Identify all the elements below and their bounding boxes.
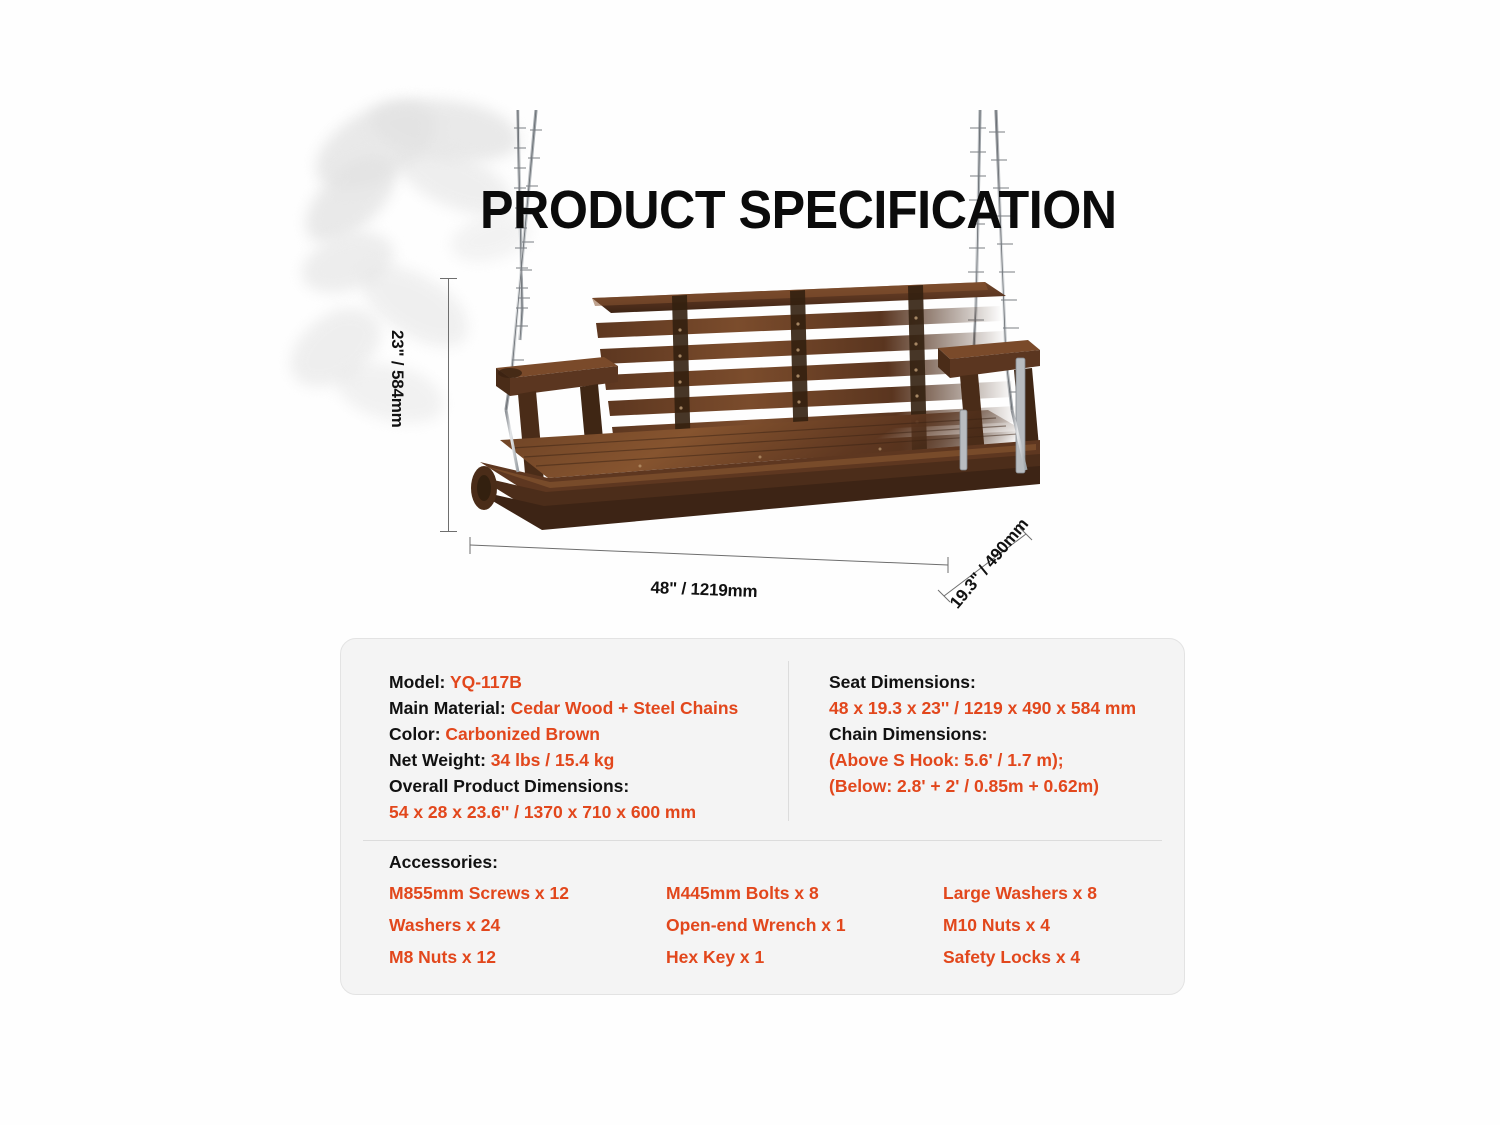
- height-dimension-label: 23" / 584mm: [387, 330, 407, 428]
- width-dimension-line: [466, 534, 952, 574]
- spec-label-model: Model:: [389, 672, 445, 692]
- accessories-section: Accessories: M855mm Screws x 12 M445mm B…: [341, 852, 1184, 968]
- accessory-item: Large Washers x 8: [943, 883, 1136, 904]
- spec-value-chain-below: (Below: 2.8' + 2' / 0.85m + 0.62m): [829, 773, 1169, 799]
- depth-dimension-line: [930, 520, 1060, 630]
- spec-label-main-material: Main Material:: [389, 698, 506, 718]
- accessory-item: Washers x 24: [389, 915, 666, 936]
- spec-value-model: YQ-117B: [450, 672, 522, 692]
- spec-label-seat-dimensions: Seat Dimensions:: [829, 669, 1169, 695]
- accessory-item: Safety Locks x 4: [943, 947, 1136, 968]
- column-divider: [788, 661, 789, 821]
- spec-value-overall-dimensions: 54 x 28 x 23.6'' / 1370 x 710 x 600 mm: [389, 799, 789, 825]
- accessories-grid: M855mm Screws x 12 M445mm Bolts x 8 Larg…: [389, 883, 1136, 968]
- spec-value-color: Carbonized Brown: [445, 724, 600, 744]
- spec-value-main-material: Cedar Wood + Steel Chains: [511, 698, 739, 718]
- accessory-item: M855mm Screws x 12: [389, 883, 666, 904]
- accessory-item: M445mm Bolts x 8: [666, 883, 943, 904]
- height-dimension-cap-top: [440, 278, 457, 279]
- height-dimension-line: [448, 278, 449, 531]
- spec-row-net-weight: Net Weight: 34 lbs / 15.4 kg: [389, 747, 789, 773]
- section-divider: [363, 840, 1162, 841]
- specification-top-section: Model: YQ-117B Main Material: Cedar Wood…: [341, 639, 1184, 841]
- accessory-item: Hex Key x 1: [666, 947, 943, 968]
- spec-column-right: Seat Dimensions: 48 x 19.3 x 23'' / 1219…: [829, 669, 1169, 799]
- accessory-item: M10 Nuts x 4: [943, 915, 1136, 936]
- width-dimension-label: 48" / 1219mm: [650, 578, 757, 602]
- page-title: PRODUCT SPECIFICATION: [480, 183, 1019, 237]
- spec-row-model: Model: YQ-117B: [389, 669, 789, 695]
- spec-row-main-material: Main Material: Cedar Wood + Steel Chains: [389, 695, 789, 721]
- spec-row-color: Color: Carbonized Brown: [389, 721, 789, 747]
- spec-value-chain-above: (Above S Hook: 5.6' / 1.7 m);: [829, 747, 1169, 773]
- spec-value-net-weight: 34 lbs / 15.4 kg: [491, 750, 615, 770]
- spec-value-seat-dimensions: 48 x 19.3 x 23'' / 1219 x 490 x 584 mm: [829, 695, 1169, 721]
- height-dimension-cap-bottom: [440, 531, 457, 532]
- spec-column-left: Model: YQ-117B Main Material: Cedar Wood…: [389, 669, 789, 825]
- accessory-item: M8 Nuts x 12: [389, 947, 666, 968]
- accessory-item: Open-end Wrench x 1: [666, 915, 943, 936]
- spec-label-color: Color:: [389, 724, 441, 744]
- spec-label-net-weight: Net Weight:: [389, 750, 486, 770]
- spec-label-overall-dimensions: Overall Product Dimensions:: [389, 773, 789, 799]
- page-root: PRODUCT SPECIFICATION 23" / 584mm 48" / …: [0, 0, 1500, 1125]
- accessories-title: Accessories:: [389, 852, 1136, 873]
- spec-label-chain-dimensions: Chain Dimensions:: [829, 721, 1169, 747]
- specification-card: Model: YQ-117B Main Material: Cedar Wood…: [340, 638, 1185, 995]
